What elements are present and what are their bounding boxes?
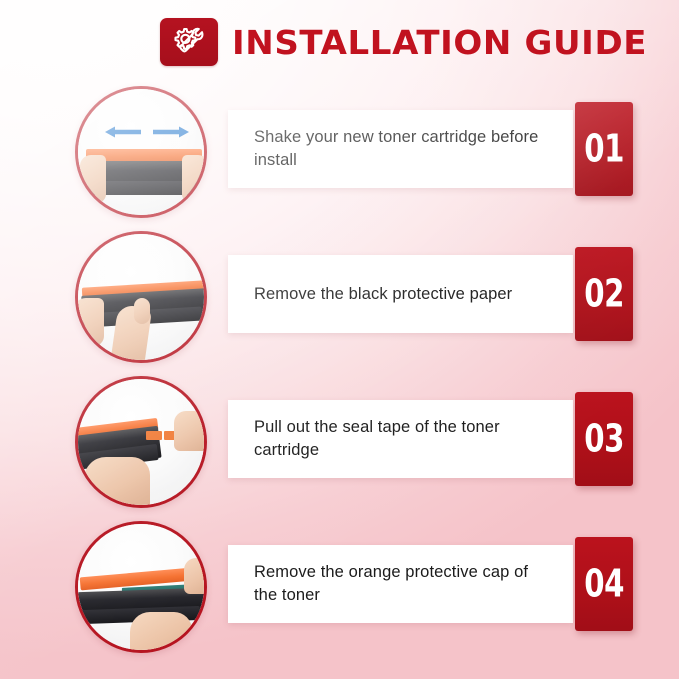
step-text: Shake your new toner cartridge before in… [228, 126, 554, 172]
step-number: 03 [584, 417, 624, 462]
step-card: Remove the orange protective cap of the … [228, 545, 573, 623]
step-number-badge: 01 [575, 102, 633, 196]
step-2-photo [75, 231, 207, 363]
step-text: Remove the black protective paper [228, 283, 512, 306]
page-title: INSTALLATION GUIDE [232, 26, 647, 59]
step-card: Pull out the seal tape of the toner cart… [228, 400, 573, 478]
step-number-badge: 03 [575, 392, 633, 486]
step-number: 02 [584, 272, 624, 317]
step-4-photo [75, 521, 207, 653]
step-item: Remove the orange protective cap of the … [0, 513, 679, 658]
step-card: Shake your new toner cartridge before in… [228, 110, 573, 188]
shake-arrows-icon [104, 125, 190, 139]
step-1-photo [75, 86, 207, 218]
step-item: Shake your new toner cartridge before in… [0, 78, 679, 223]
step-number-badge: 02 [575, 247, 633, 341]
step-text: Remove the orange protective cap of the … [228, 561, 554, 607]
step-3-photo [75, 376, 207, 508]
guide-header: INSTALLATION GUIDE [160, 18, 635, 66]
step-number: 04 [584, 562, 624, 607]
installation-guide-page: INSTALLATION GUIDE [0, 0, 679, 679]
step-number-badge: 04 [575, 537, 633, 631]
step-number: 01 [584, 127, 624, 172]
gear-wrench-icon [160, 18, 218, 66]
step-item: Pull out the seal tape of the toner cart… [0, 368, 679, 513]
step-text: Pull out the seal tape of the toner cart… [228, 416, 554, 462]
step-item: Remove the black protective paper 02 [0, 223, 679, 368]
step-card: Remove the black protective paper [228, 255, 573, 333]
